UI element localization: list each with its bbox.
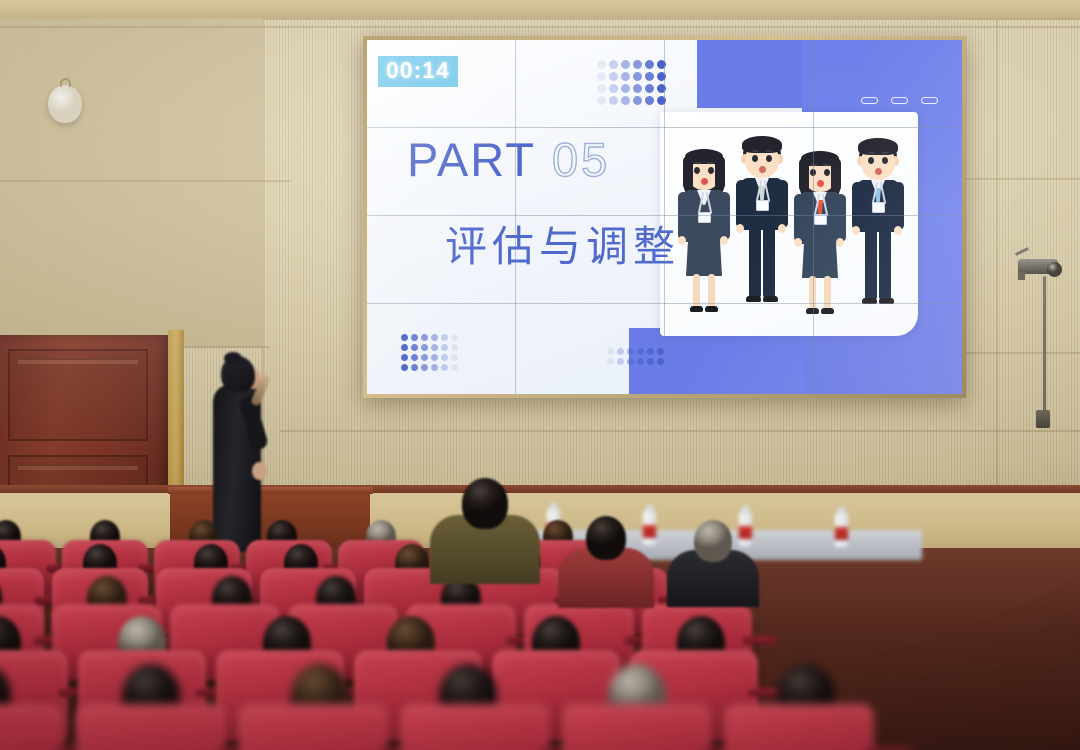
audience	[0, 0, 1080, 750]
front-row-attendee	[0, 0, 1080, 750]
auditorium-scene: PART 05 评估与调整 00:14	[0, 0, 1080, 750]
attendee-head	[694, 520, 732, 562]
